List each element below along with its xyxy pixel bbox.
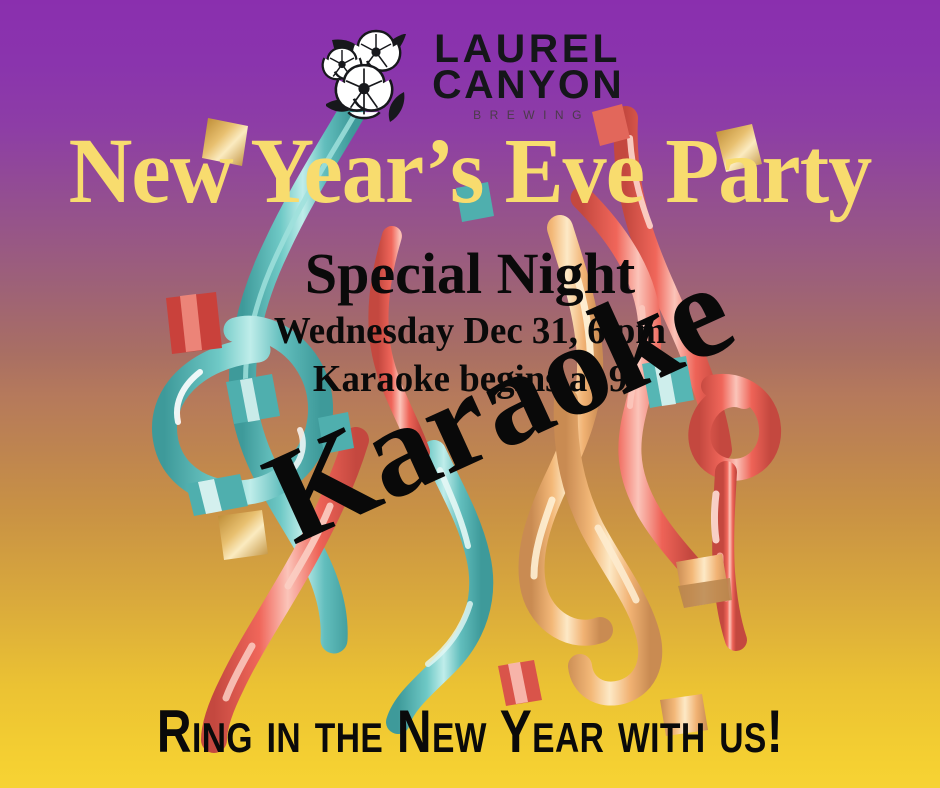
brand-logo: LAUREL CANYON BREWING: [0, 26, 940, 126]
footer-callout: Ring in the New Year with us!: [94, 702, 846, 762]
confetti-gold-left-lower: [218, 510, 268, 560]
brand-line-canyon: CANYON: [432, 67, 624, 104]
brand-wordmark: LAUREL CANYON BREWING: [434, 31, 622, 122]
event-subtitle: Special Night: [0, 243, 940, 304]
page-title: New Year’s Eve Party: [24, 125, 917, 218]
brand-line-laurel: LAUREL: [435, 31, 622, 68]
poster-canvas: LAUREL CANYON BREWING New Year’s Eve Par…: [0, 0, 940, 788]
laurel-canyon-flowers-icon: [318, 26, 422, 126]
